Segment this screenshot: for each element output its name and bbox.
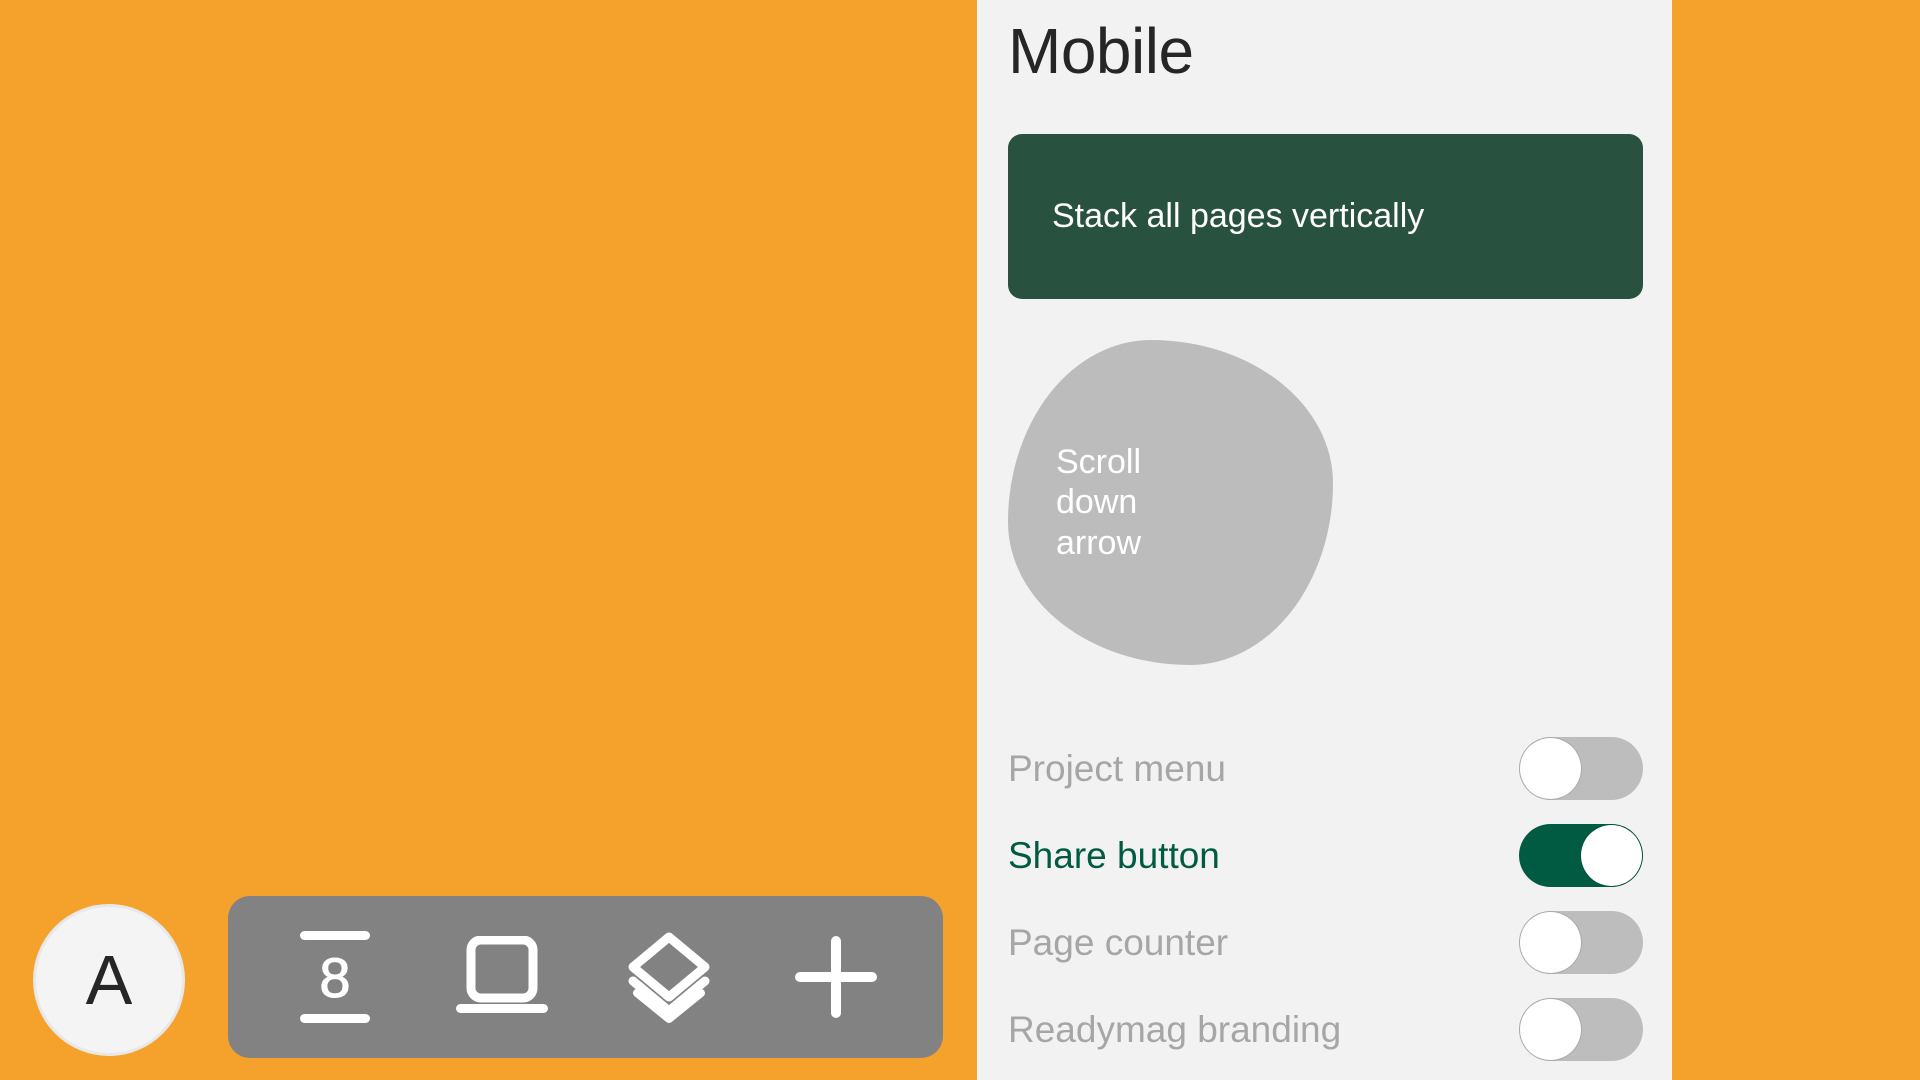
toggle-switch[interactable] <box>1519 824 1643 887</box>
plus-icon-button[interactable] <box>784 925 888 1029</box>
desktop-device-icon-button[interactable] <box>450 925 554 1029</box>
toggle-knob <box>1520 738 1581 799</box>
scroll-down-arrow-label: Scroll down arrow <box>1056 442 1221 562</box>
desktop-device-icon <box>454 936 550 1018</box>
avatar[interactable]: A <box>33 904 185 1056</box>
layers-icon-button[interactable] <box>617 925 721 1029</box>
editor-toolbar: 8 <box>228 896 943 1058</box>
page-counter-icon-button[interactable]: 8 <box>283 925 387 1029</box>
toggle-settings-list: Project menuShare buttonPage counterRead… <box>1008 725 1643 1073</box>
toggle-label: Share button <box>1008 837 1220 874</box>
page-title: Mobile <box>1008 16 1194 86</box>
toggle-row[interactable]: Readymag branding <box>1008 986 1643 1073</box>
toggle-label: Project menu <box>1008 750 1226 787</box>
toggle-row[interactable]: Share button <box>1008 812 1643 899</box>
svg-text:8: 8 <box>320 946 351 1009</box>
stack-all-pages-label: Stack all pages vertically <box>1052 196 1424 237</box>
bottom-toolbar-cluster: A 8 <box>0 880 978 1080</box>
plus-icon <box>793 934 879 1020</box>
toggle-label: Page counter <box>1008 924 1228 961</box>
toggle-switch[interactable] <box>1519 911 1643 974</box>
layers-icon <box>623 931 715 1023</box>
toggle-knob <box>1581 825 1642 886</box>
toggle-row[interactable]: Project menu <box>1008 725 1643 812</box>
mobile-settings-panel: Mobile Stack all pages vertically Scroll… <box>977 0 1672 1080</box>
toggle-label: Readymag branding <box>1008 1011 1341 1048</box>
toggle-switch[interactable] <box>1519 737 1643 800</box>
toggle-row[interactable]: Page counter <box>1008 899 1643 986</box>
page-counter-icon: 8 <box>296 929 374 1025</box>
toggle-knob <box>1520 999 1581 1060</box>
avatar-letter: A <box>86 945 133 1015</box>
stack-all-pages-vertically-button[interactable]: Stack all pages vertically <box>1008 134 1643 299</box>
toggle-switch[interactable] <box>1519 998 1643 1061</box>
scroll-down-arrow-option[interactable]: Scroll down arrow <box>1008 340 1333 665</box>
toggle-knob <box>1520 912 1581 973</box>
